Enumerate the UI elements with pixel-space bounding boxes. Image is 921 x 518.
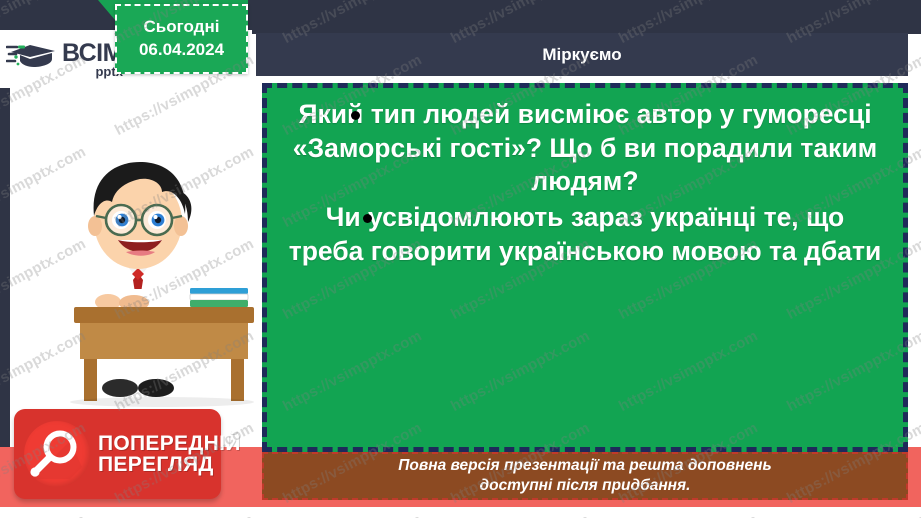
purchase-notice-bar: Повна версія презентації та решта доповн… xyxy=(262,452,908,500)
preview-badge[interactable]: ПОПЕРЕДНІЙ ПЕРЕГЛЯД xyxy=(14,409,221,499)
graduation-cap-icon xyxy=(6,39,60,79)
bullet-dot-icon xyxy=(351,111,360,120)
question-list: Який тип людей висміює автор у гуморесці… xyxy=(281,98,889,268)
preview-badge-label: ПОПЕРЕДНІЙ ПЕРЕГЛЯД xyxy=(98,433,241,475)
schoolboy-at-desk-illustration xyxy=(22,140,258,410)
date-badge-label: Сьогодні xyxy=(144,16,220,39)
list-item-text: Який тип людей висміює автор у гуморесці… xyxy=(293,99,877,196)
list-item: Який тип людей висміює автор у гуморесці… xyxy=(281,98,889,199)
list-item-text: Чи усвідомлюють зараз українці те, що тр… xyxy=(289,202,882,266)
bottom-white-strip xyxy=(0,507,921,518)
preview-badge-line-2: ПЕРЕГЛЯД xyxy=(98,454,241,475)
slide-title-bar: Міркуємо xyxy=(256,33,908,76)
bullet-dot-icon xyxy=(363,214,372,223)
slide-canvas: ВСІМ pptx Сьогодні 06.04.2024 xyxy=(0,0,921,518)
magnifier-icon xyxy=(24,421,90,487)
page-title: Міркуємо xyxy=(542,45,621,65)
notice-line-1: Повна версія презентації та решта доповн… xyxy=(398,456,771,476)
content-panel: Який тип людей висміює автор у гуморесці… xyxy=(262,83,908,452)
date-badge: Сьогодні 06.04.2024 xyxy=(115,4,248,74)
preview-badge-line-1: ПОПЕРЕДНІЙ xyxy=(98,433,241,454)
brand-logo-text: ВСІМ pptx xyxy=(62,41,123,78)
brand-logo-title: ВСІМ xyxy=(62,41,123,66)
date-badge-value: 06.04.2024 xyxy=(139,39,224,62)
list-item: Чи усвідомлюють зараз українці те, що тр… xyxy=(281,201,889,268)
notice-line-2: доступні після придбання. xyxy=(480,476,691,496)
